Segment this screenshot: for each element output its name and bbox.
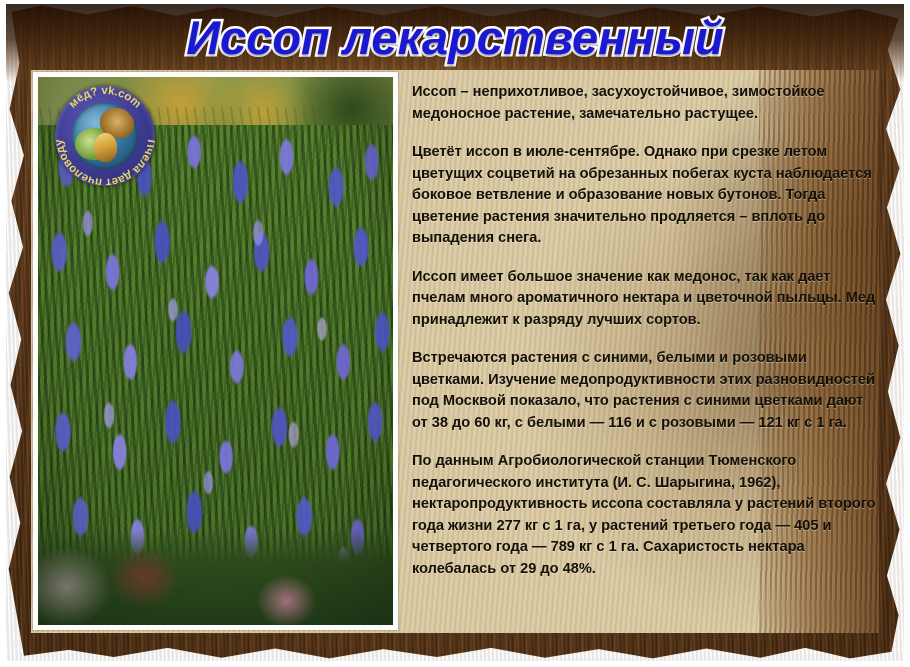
paragraph-3: Иссоп имеет большое значение как медонос…: [412, 267, 882, 332]
paragraph-5: По данным Агробиологической станции Тюме…: [412, 451, 882, 580]
hyssop-photo-card: мёд? vk.com Пчела дает пчеловоду: [33, 72, 398, 630]
vk-group-watermark-logo: мёд? vk.com Пчела дает пчеловоду: [55, 86, 155, 186]
poster-root: Иссоп лекарственный: [0, 0, 910, 667]
article-text-column: Иссоп – неприхотливое, засухоустойчивое,…: [412, 82, 882, 580]
paragraph-4: Встречаются растения с синими, белыми и …: [412, 348, 882, 434]
watermark-top-textpath: мёд? vk.com: [67, 86, 143, 111]
watermark-top-text: мёд? vk.com: [67, 86, 143, 111]
hyssop-photo: мёд? vk.com Пчела дает пчеловоду: [38, 77, 393, 625]
paragraph-1: Иссоп – неприхотливое, засухоустойчивое,…: [412, 82, 882, 125]
bee-icon: [94, 133, 116, 162]
paragraph-2: Цветёт иссоп в июле-сентябре. Однако при…: [412, 142, 882, 250]
